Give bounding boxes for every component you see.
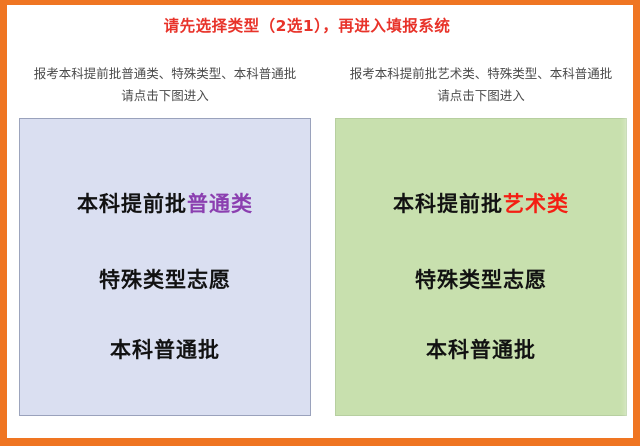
column-art-description-line1: 报考本科提前批艺术类、特殊类型、本科普通批 — [350, 66, 613, 81]
card-art-row-1-prefix: 本科提前批 — [393, 192, 503, 216]
column-art-description-line2: 请点击下图进入 — [350, 85, 613, 107]
card-art-row-3-label: 本科普通批 — [426, 338, 536, 362]
card-general-row-1-prefix: 本科提前批 — [77, 192, 187, 216]
page-title: 请先选择类型（2选1），再进入填报系统 — [7, 14, 633, 36]
card-general[interactable]: 本科提前批普通类 特殊类型志愿 本科普通批 — [19, 118, 311, 416]
page-title-text: 请先选择类型（2选1），再进入填报系统 — [164, 14, 451, 36]
card-general-row-1[interactable]: 本科提前批普通类 — [20, 188, 310, 218]
card-general-row-2-label: 特殊类型志愿 — [99, 268, 231, 292]
column-general: 报考本科提前批普通类、特殊类型、本科普通批 请点击下图进入 本科提前批普通类 特… — [7, 57, 321, 438]
card-art-row-1[interactable]: 本科提前批艺术类 — [336, 188, 626, 218]
card-art-row-2-label: 特殊类型志愿 — [415, 268, 547, 292]
card-art-row-2[interactable]: 特殊类型志愿 — [336, 264, 626, 294]
column-general-description-line1: 报考本科提前批普通类、特殊类型、本科普通批 — [34, 66, 297, 81]
card-art-row-1-accent: 艺术类 — [503, 192, 569, 216]
page-content: 请先选择类型（2选1），再进入填报系统 报考本科提前批普通类、特殊类型、本科普通… — [7, 5, 633, 438]
page-frame: 请先选择类型（2选1），再进入填报系统 报考本科提前批普通类、特殊类型、本科普通… — [0, 0, 640, 446]
card-general-row-3[interactable]: 本科普通批 — [20, 334, 310, 364]
card-general-row-3-label: 本科普通批 — [110, 338, 220, 362]
column-general-description: 报考本科提前批普通类、特殊类型、本科普通批 请点击下图进入 — [34, 63, 297, 106]
column-general-description-line2: 请点击下图进入 — [34, 85, 297, 107]
card-art[interactable]: 本科提前批艺术类 特殊类型志愿 本科普通批 — [335, 118, 627, 416]
column-art-description: 报考本科提前批艺术类、特殊类型、本科普通批 请点击下图进入 — [350, 63, 613, 106]
card-general-row-1-accent: 普通类 — [187, 192, 253, 216]
type-选择-columns: 报考本科提前批普通类、特殊类型、本科普通批 请点击下图进入 本科提前批普通类 特… — [7, 57, 633, 438]
column-art: 报考本科提前批艺术类、特殊类型、本科普通批 请点击下图进入 本科提前批艺术类 特… — [321, 57, 633, 438]
card-general-row-2[interactable]: 特殊类型志愿 — [20, 264, 310, 294]
card-art-row-3[interactable]: 本科普通批 — [336, 334, 626, 364]
